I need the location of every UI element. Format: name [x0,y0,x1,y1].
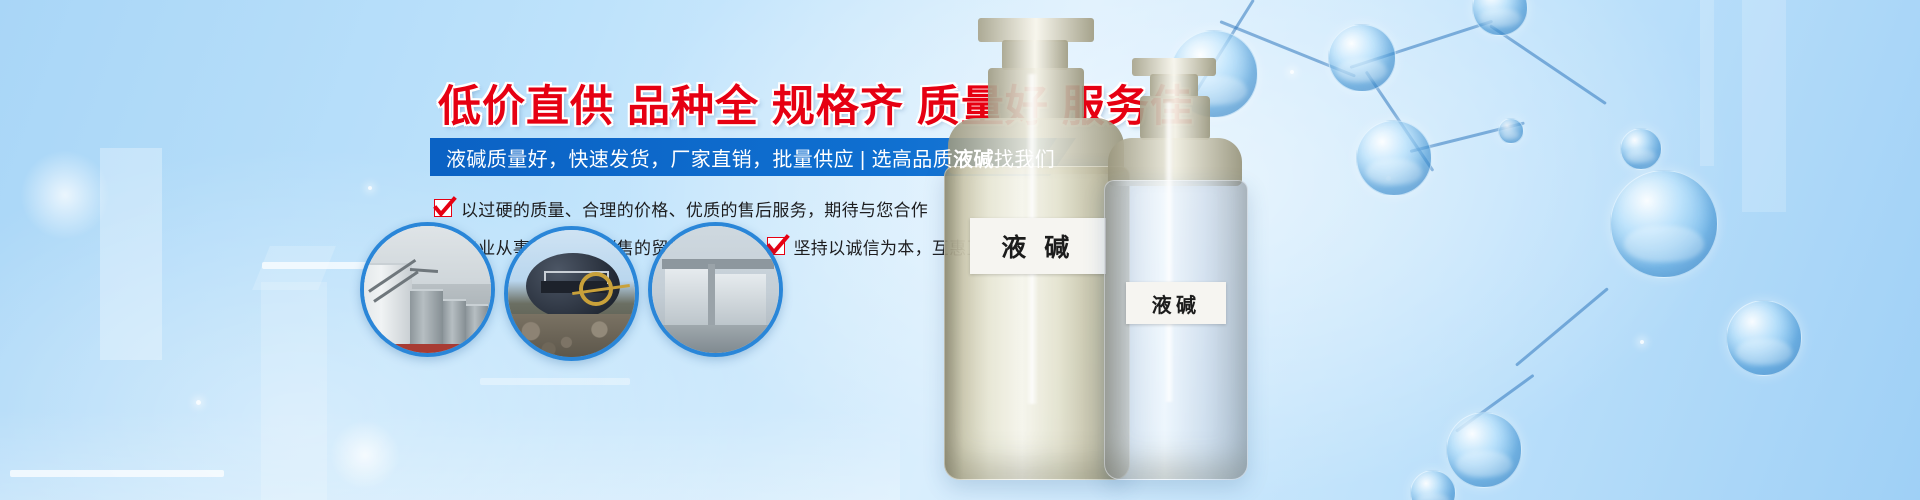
bottle-label: 液碱 [1126,282,1226,324]
molecule-atom [1446,412,1522,488]
bottle-label: 液 碱 [970,218,1106,274]
thumbnail-image [364,226,491,353]
molecule-atom [1498,118,1524,144]
bottle-stopper-neck [1150,74,1198,98]
bottle-highlight [1164,102,1174,402]
bottle-body [1104,180,1248,480]
bullet-item: 以过硬的质量、合理的价格、优质的售后服务，期待与您合作 [434,196,928,221]
molecule-atom [1620,128,1662,170]
molecule-atom [1610,170,1718,278]
bottle-stopper-neck [1002,40,1068,70]
subtitle-strong: 液碱 [953,149,994,171]
photo-building [713,274,766,330]
photo-ground [652,325,779,353]
photo-tank [466,304,489,344]
thumbnail-strip [360,222,780,372]
photo-roof [662,259,774,269]
subtitle-text: 液碱质量好，快速发货，厂家直销，批量供应 | 选高品质液碱找我们 [430,143,1055,172]
photo-building [665,269,708,330]
thumbnail-storage-tanks[interactable] [360,222,495,357]
photo-tank [360,263,412,344]
photo-ground-band [364,344,491,353]
thumbnail-plant[interactable] [648,222,783,357]
bottle-stopper [978,18,1094,42]
subtitle-tail: 找我们 [994,149,1055,171]
bottle-shoulder [1108,138,1242,186]
thumbnail-sphere-tank[interactable] [504,226,639,361]
subtitle-lead: 液碱质量好，快速发货，厂家直销，批量供应 | 选高品质 [446,149,953,171]
thumbnail-image [652,226,779,353]
molecule-atom [1472,0,1528,36]
photo-building [708,264,716,330]
bottle-neck [1140,96,1210,140]
bullet-label: 以过硬的质量、合理的价格、优质的售后服务，期待与您合作 [461,196,928,221]
bottle-small: 液碱 [1092,58,1282,478]
thumbnail-image [508,230,635,357]
photo-tank [443,299,466,344]
promo-banner: 低价直供 品种全 规格齐 质量好 服务佳 液碱质量好，快速发货，厂家直销，批量供… [0,0,1920,500]
photo-tank [410,289,443,344]
bottle-label-text: 液碱 [1152,289,1201,318]
photo-rocks [508,314,635,357]
subtitle-bar: 液碱质量好，快速发货，厂家直销，批量供应 | 选高品质液碱找我们 [430,138,1055,176]
molecule-bond [1489,24,1607,105]
check-icon [434,199,452,217]
molecule-bond [1515,287,1609,366]
product-bottles: 液 碱 液碱 [930,0,1450,500]
bottle-label-text: 液 碱 [1001,228,1074,264]
molecule-atom [1726,300,1802,376]
